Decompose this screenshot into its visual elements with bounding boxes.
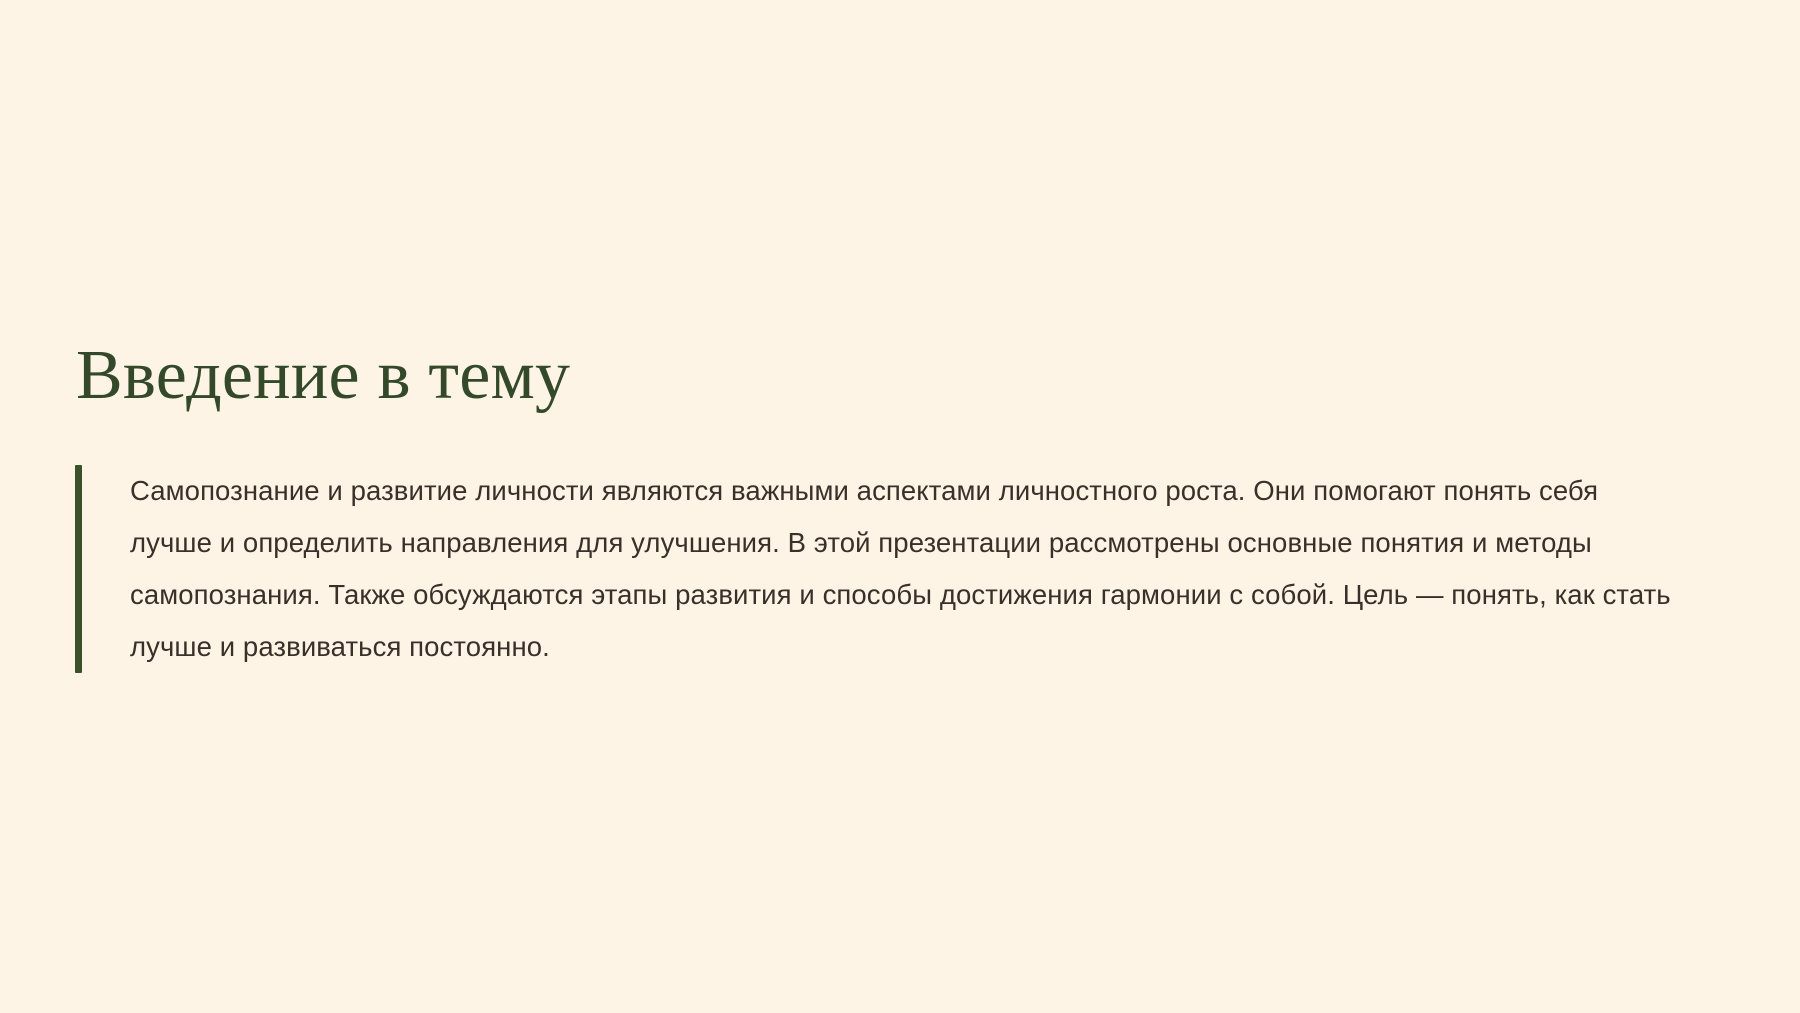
body-block: Самопознание и развитие личности являютс…	[75, 465, 1715, 673]
body-paragraph: Самопознание и развитие личности являютс…	[130, 465, 1675, 673]
body-text-wrap: Самопознание и развитие личности являютс…	[82, 465, 1715, 673]
accent-bar	[75, 465, 82, 673]
page-title: Введение в тему	[76, 340, 570, 411]
slide-content: Введение в тему Самопознание и развитие …	[0, 0, 1800, 1013]
slide: Введение в тему Самопознание и развитие …	[0, 0, 1800, 1013]
